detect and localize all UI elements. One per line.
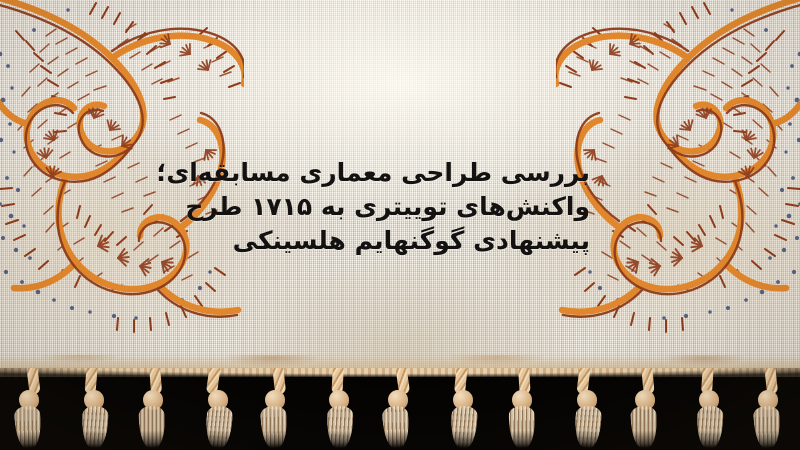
tassel-skirt: [326, 406, 353, 449]
tassel: [191, 368, 239, 450]
tassel-skirt: [574, 405, 602, 448]
title-line-1: بررسی طراحی معماری مسابقه‌ای؛: [208, 156, 590, 190]
page-title: بررسی طراحی معماری مسابقه‌ای؛ واکنش‌های …: [208, 156, 590, 258]
tassel: [622, 368, 670, 450]
title-line-3: پیشنهادی گوگنهایم هلسینکی: [208, 224, 590, 258]
tassel-skirt: [81, 406, 109, 449]
tassel: [376, 368, 424, 450]
tassel: [499, 368, 547, 450]
tassel: [561, 368, 609, 450]
knotted-tassel-fringe: [0, 368, 800, 450]
tassel: [438, 368, 486, 450]
tassel-skirt: [138, 406, 165, 449]
tassel-skirt: [13, 405, 41, 448]
tassel-skirt: [205, 405, 234, 449]
tassel-skirt: [382, 405, 411, 449]
tassel-skirt: [753, 405, 781, 448]
title-line-2: واکنش‌های توییتری به ۱۷۱۵ طرح: [208, 190, 590, 224]
tassel-skirt: [508, 406, 535, 449]
tassel: [314, 368, 362, 450]
tassel: [68, 368, 116, 450]
tassel: [253, 368, 301, 450]
tassel: [7, 368, 55, 450]
title-card: بررسی طراحی معماری مسابقه‌ای؛ واکنش‌های …: [0, 0, 800, 450]
tassel-skirt: [696, 406, 723, 449]
tassel-skirt: [450, 405, 478, 448]
tassel: [130, 368, 178, 450]
tassel: [745, 368, 793, 450]
tassel-skirt: [630, 406, 658, 449]
tassel-skirt: [260, 405, 288, 448]
tassel: [684, 368, 732, 450]
